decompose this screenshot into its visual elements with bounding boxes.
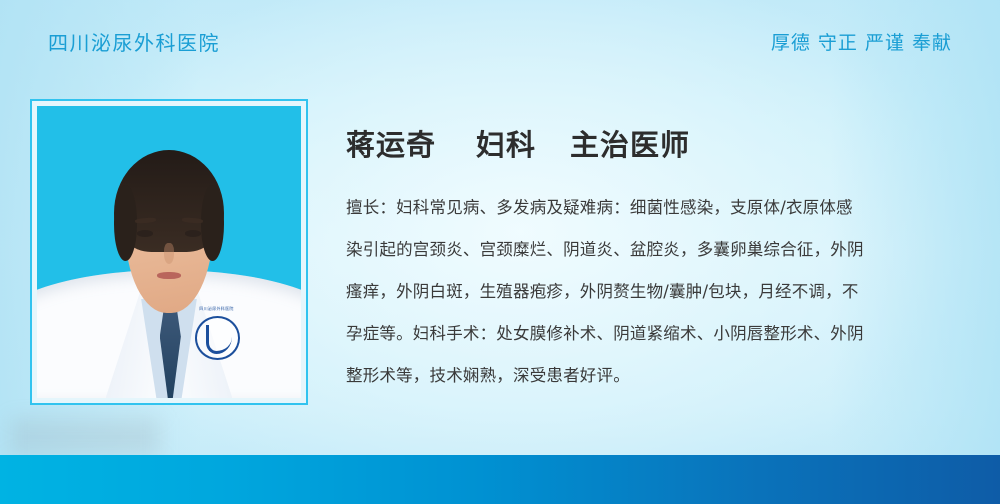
page-header: 四川泌尿外科医院 厚德 守正 严谨 奉献 bbox=[0, 0, 1000, 82]
doctor-info-panel: 蒋运奇 妇科 主治医师 擅长：妇科常见病、多发病及疑难病：细菌性感染，支原体/衣… bbox=[346, 122, 970, 397]
doctor-name: 蒋运奇 bbox=[346, 122, 436, 164]
portrait-eye-left bbox=[137, 230, 153, 236]
doctor-profile-card: 四川泌尿外科医院 厚德 守正 严谨 奉献 四川泌尿外科医院 bbox=[0, 0, 1000, 504]
doctor-portrait: 四川泌尿外科医院 bbox=[37, 106, 301, 398]
bio-line: 染引起的宫颈炎、宫颈糜烂、阴道炎、盆腔炎，多囊卵巢综合征，外阴 bbox=[346, 229, 970, 271]
doctor-department: 妇科 bbox=[476, 122, 536, 164]
doctor-heading: 蒋运奇 妇科 主治医师 bbox=[346, 122, 970, 164]
portrait-nose bbox=[164, 243, 175, 263]
bio-line: 擅长：妇科常见病、多发病及疑难病：细菌性感染，支原体/衣原体感 bbox=[346, 187, 970, 229]
bio-line: 瘙痒，外阴白斑，生殖器疱疹，外阴赘生物/囊肿/包块，月经不调，不 bbox=[346, 271, 970, 313]
footer-accent-bar bbox=[0, 455, 1000, 504]
hospital-motto: 厚德 守正 严谨 奉献 bbox=[771, 28, 952, 55]
doctor-specialty-description: 擅长：妇科常见病、多发病及疑难病：细菌性感染，支原体/衣原体感 染引起的宫颈炎、… bbox=[346, 187, 970, 397]
background-soft-shadow bbox=[10, 418, 160, 456]
portrait-hair-right-side bbox=[201, 185, 225, 261]
doctor-photo-frame: 四川泌尿外科医院 bbox=[30, 99, 308, 405]
bio-line: 整形术等，技术娴熟，深受患者好评。 bbox=[346, 355, 970, 397]
hospital-logo-icon bbox=[195, 316, 240, 360]
portrait-eye-right bbox=[185, 230, 201, 236]
portrait-hair-left-side bbox=[114, 185, 138, 261]
doctor-rank: 主治医师 bbox=[570, 122, 690, 164]
hospital-name: 四川泌尿外科医院 bbox=[48, 27, 220, 56]
bio-line: 孕症等。妇科手术：处女膜修补术、阴道紧缩术、小阴唇整形术、外阴 bbox=[346, 313, 970, 355]
